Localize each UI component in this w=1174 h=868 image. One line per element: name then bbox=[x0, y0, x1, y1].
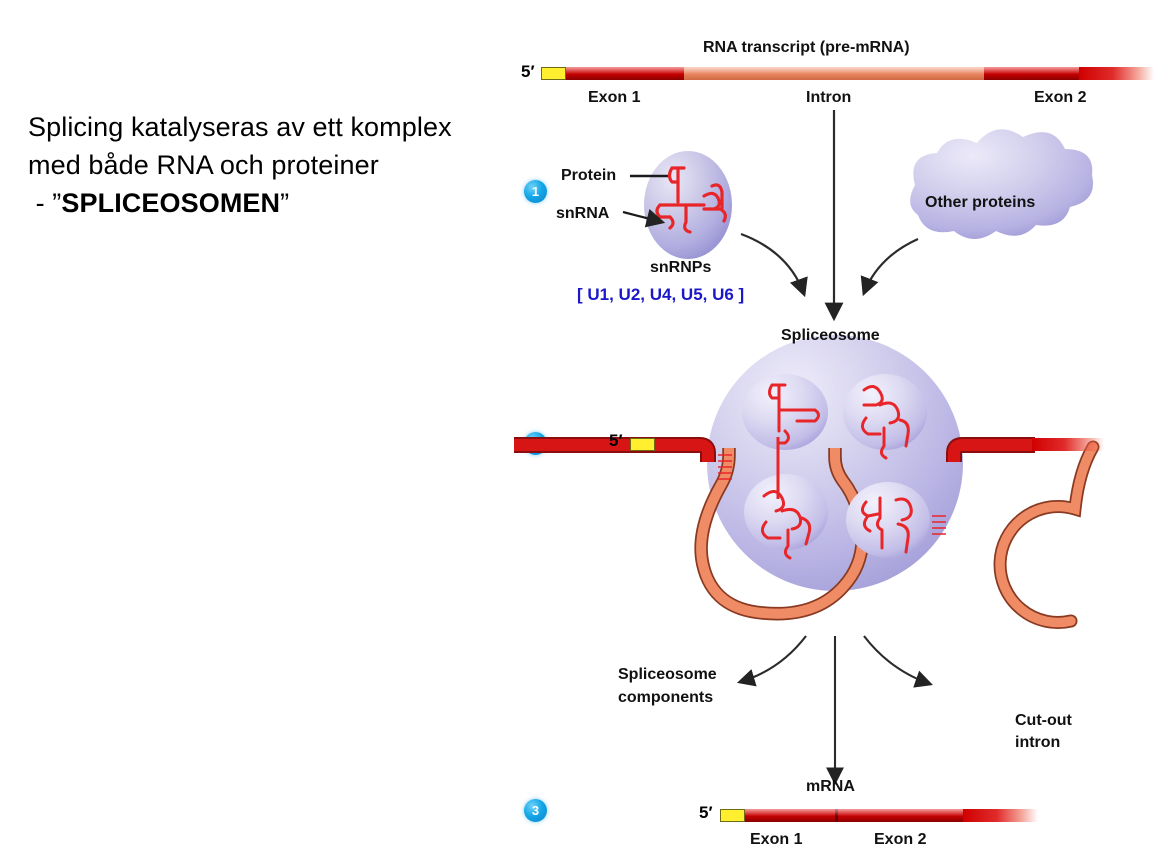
snrnps-label: snRNPs bbox=[650, 258, 711, 277]
u-snrnp-list: [ U1, U2, U4, U5, U6 ] bbox=[577, 285, 744, 305]
arrow-proteins-to-spliceosome bbox=[864, 239, 918, 293]
other-proteins-label: Other proteins bbox=[925, 193, 1035, 212]
arrow-to-intron bbox=[864, 636, 930, 684]
arrow-to-components bbox=[740, 636, 806, 682]
five-prime-cap-mrna bbox=[720, 809, 745, 822]
snrna-label: snRNA bbox=[556, 204, 609, 223]
cut-out-intron-label-line2: intron bbox=[1015, 733, 1060, 752]
mrna-five-prime: 5′ bbox=[699, 803, 713, 823]
spliceosome-components-label-line2: components bbox=[618, 688, 713, 707]
mrna-exon2-fade bbox=[963, 809, 1038, 822]
snrnp-graphics bbox=[0, 0, 1174, 868]
mrna-exon2-label: Exon 2 bbox=[874, 830, 926, 849]
slide-canvas: Splicing katalyseras av ett komplex med … bbox=[0, 0, 1174, 868]
cut-out-intron-lariat bbox=[1000, 447, 1093, 622]
spliceosome-components-label-line1: Spliceosome bbox=[618, 665, 717, 684]
step2-five-prime: 5′ bbox=[609, 431, 623, 451]
subparticle-u4 bbox=[744, 474, 828, 550]
cut-out-intron-label-line1: Cut-out bbox=[1015, 711, 1072, 730]
five-prime-cap-step2 bbox=[630, 438, 655, 451]
protein-label: Protein bbox=[561, 166, 616, 185]
mrna-highlight bbox=[745, 809, 963, 822]
right-exon-strand bbox=[954, 445, 1035, 462]
subparticle-u5 bbox=[846, 482, 930, 558]
step2-exon2-fade bbox=[1032, 438, 1104, 451]
mrna-exon1-label: Exon 1 bbox=[750, 830, 802, 849]
other-proteins-blob bbox=[910, 129, 1093, 239]
mrna-title: mRNA bbox=[806, 777, 855, 796]
spliceosome-label: Spliceosome bbox=[781, 326, 880, 345]
arrow-snrnp-to-spliceosome bbox=[741, 234, 804, 294]
